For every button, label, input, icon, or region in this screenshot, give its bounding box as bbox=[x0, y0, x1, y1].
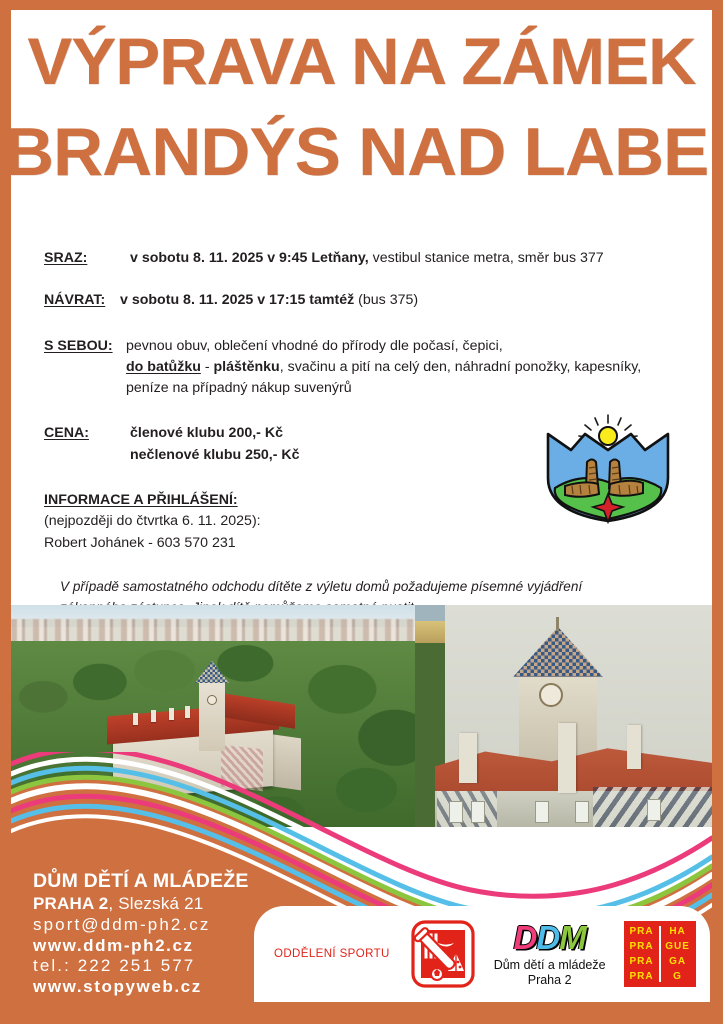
photo-left-edge-building bbox=[415, 621, 445, 643]
org-website-primary[interactable]: www.ddm-ph2.cz bbox=[33, 936, 249, 956]
sebou-line-1: pevnou obuv, oblečení vhodné do přírody … bbox=[126, 336, 694, 357]
footer: DŮM DĚTÍ A MLÁDEŽE PRAHA 2, Slezská 21 s… bbox=[11, 852, 712, 1014]
page-title: VÝPRAVA NA ZÁMEK BRANDÝS NAD LABEM bbox=[11, 28, 712, 186]
informace-line-2: Robert Johánek - 603 570 231 bbox=[44, 533, 694, 554]
sebou-dash: - bbox=[201, 359, 214, 375]
prague-left-2: PRA bbox=[630, 954, 654, 969]
label-sraz: SRAZ: bbox=[44, 248, 130, 269]
row-sraz: SRAZ: v sobotu 8. 11. 2025 v 9:45 Letňan… bbox=[44, 248, 694, 269]
ddm-subtitle-line-1: Dům dětí a mládeže bbox=[494, 958, 606, 973]
navrat-rest: (bus 375) bbox=[354, 292, 418, 308]
castle-chimney bbox=[169, 708, 174, 720]
org-phone: tel.: 222 251 577 bbox=[33, 956, 249, 976]
ddm-letter-d2: D bbox=[536, 919, 559, 956]
org-email[interactable]: sport@ddm-ph2.cz bbox=[33, 915, 249, 935]
prague-right-2: GA bbox=[669, 954, 686, 969]
logo-bar: ODDĚLENÍ SPORTU bbox=[254, 906, 710, 1002]
sebou-line-2: do batůžku - pláštěnku, svačinu a pití n… bbox=[126, 357, 694, 378]
org-title: DŮM DĚTÍ A MLÁDEŽE bbox=[33, 870, 249, 893]
org-website-secondary[interactable]: www.stopyweb.cz bbox=[33, 977, 249, 997]
ddm-logo: DDM Dům dětí a mládeže Praha 2 bbox=[494, 921, 606, 988]
row-navrat: NÁVRAT: v sobotu 8. 11. 2025 v 17:15 tam… bbox=[44, 290, 694, 311]
castle-chimney bbox=[151, 710, 156, 722]
spacer-2 bbox=[44, 317, 694, 336]
sebou-batuzku: do batůžku bbox=[126, 359, 201, 375]
poster-page: VÝPRAVA NA ZÁMEK BRANDÝS NAD LABEM SRAZ:… bbox=[11, 10, 712, 1014]
prague-logo-divider bbox=[659, 926, 661, 982]
prague-left-3: PRA bbox=[630, 969, 654, 984]
label-navrat: NÁVRAT: bbox=[44, 290, 120, 311]
value-navrat: v sobotu 8. 11. 2025 v 17:15 tamtéž (bus… bbox=[120, 290, 694, 311]
label-cena: CENA: bbox=[44, 423, 130, 466]
prague-logo-left-column: PRA PRA PRA PRA bbox=[624, 921, 660, 987]
prague-logo-right-column: HA GUE GA G bbox=[660, 921, 696, 987]
navrat-bold: v sobotu 8. 11. 2025 v 17:15 tamtéž bbox=[120, 292, 354, 308]
poster: VÝPRAVA NA ZÁMEK BRANDÝS NAD LABEM SRAZ:… bbox=[0, 0, 723, 1024]
spacer-1 bbox=[44, 274, 694, 290]
ddm-subtitle: Dům dětí a mládeže Praha 2 bbox=[494, 958, 606, 988]
castle-tower bbox=[199, 677, 225, 751]
ddm-letter-d1: D bbox=[514, 919, 537, 956]
org-address: PRAHA 2, Slezská 21 bbox=[33, 894, 249, 914]
coat-of-arms-icon bbox=[515, 412, 701, 524]
tower-clock-face bbox=[539, 683, 563, 707]
value-sebou: pevnou obuv, oblečení vhodné do přírody … bbox=[126, 336, 694, 400]
title-line-2: BRANDÝS NAD LABEM bbox=[11, 118, 712, 186]
ddm-letters: DDM bbox=[494, 921, 606, 954]
address-street: , Slezská 21 bbox=[108, 894, 203, 913]
sebou-plastenku: pláštěnku bbox=[213, 359, 279, 375]
sebou-line-3: peníze na případný nákup suvenýrů bbox=[126, 378, 694, 399]
castle-chimney bbox=[185, 706, 190, 718]
castle-chimney bbox=[133, 713, 138, 725]
ddm-letter-m: M bbox=[559, 919, 586, 956]
row-sebou: S SEBOU: pevnou obuv, oblečení vhodné do… bbox=[44, 336, 694, 400]
prague-city-logo: PRA PRA PRA PRA HA GUE GA G bbox=[624, 921, 696, 987]
sraz-bold: v sobotu 8. 11. 2025 v 9:45 Letňany, bbox=[130, 250, 369, 266]
prague-right-0: HA bbox=[669, 924, 685, 939]
sebou-line2-rest: , svačinu a pití na celý den, náhradní p… bbox=[280, 359, 641, 375]
sport-equipment-icon bbox=[410, 919, 476, 989]
sraz-rest: vestibul stanice metra, směr bus 377 bbox=[369, 250, 604, 266]
sport-department-label: ODDĚLENÍ SPORTU bbox=[274, 948, 390, 960]
prague-right-1: GUE bbox=[665, 939, 690, 954]
prague-right-3: G bbox=[673, 969, 682, 984]
castle-clock bbox=[207, 695, 217, 705]
label-sebou: S SEBOU: bbox=[44, 336, 126, 400]
note-line-1: V případě samostatného odchodu dítěte z … bbox=[60, 576, 694, 597]
prague-left-0: PRA bbox=[630, 924, 654, 939]
value-sraz: v sobotu 8. 11. 2025 v 9:45 Letňany, ves… bbox=[130, 248, 694, 269]
prague-left-1: PRA bbox=[630, 939, 654, 954]
ddm-subtitle-line-2: Praha 2 bbox=[494, 973, 606, 988]
title-line-1: VÝPRAVA NA ZÁMEK bbox=[11, 28, 712, 94]
contact-block: DŮM DĚTÍ A MLÁDEŽE PRAHA 2, Slezská 21 s… bbox=[33, 870, 249, 997]
tower-finial bbox=[556, 617, 559, 631]
address-city: PRAHA 2 bbox=[33, 894, 108, 913]
